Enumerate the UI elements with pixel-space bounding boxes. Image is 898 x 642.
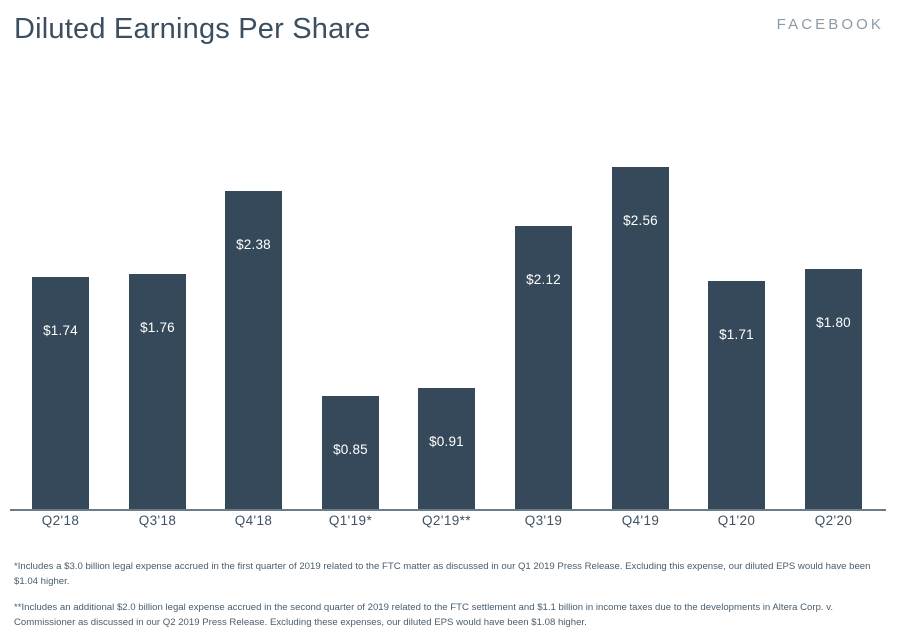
x-axis-label: Q4'18: [205, 513, 302, 528]
bar-Q218[interactable]: [32, 277, 89, 509]
x-axis-label: Q3'19: [495, 513, 592, 528]
slide-header: Diluted Earnings Per Share FACEBOOK: [0, 0, 898, 70]
x-axis-label: Q4'19: [592, 513, 689, 528]
bar-value-label: $0.91: [418, 434, 475, 449]
footnote-1: *Includes a $3.0 billion legal expense a…: [14, 560, 892, 589]
page-title: Diluted Earnings Per Share: [14, 13, 371, 46]
bar-value-label: $2.38: [225, 237, 282, 252]
x-axis-label: Q2'19**: [398, 513, 495, 528]
bar-Q319[interactable]: [515, 226, 572, 509]
x-axis-label: Q2'20: [785, 513, 882, 528]
bar-value-label: $1.71: [708, 327, 765, 342]
bar-value-label: $1.74: [32, 323, 89, 338]
footnotes: *Includes a $3.0 billion legal expense a…: [14, 560, 892, 642]
x-axis-label: Q2'18: [12, 513, 109, 528]
bar-value-label: $1.76: [129, 320, 186, 335]
bar-chart: $1.74$1.76$2.38$0.85$0.91$2.12$2.56$1.71…: [0, 70, 898, 545]
bar-Q318[interactable]: [129, 274, 186, 509]
bar-value-label: $1.80: [805, 315, 862, 330]
facebook-wordmark: FACEBOOK: [777, 16, 884, 33]
x-axis-label: Q3'18: [109, 513, 206, 528]
bar-Q220[interactable]: [805, 269, 862, 509]
x-axis-label: Q1'20: [688, 513, 785, 528]
x-axis-labels: Q2'18Q3'18Q4'18Q1'19*Q2'19**Q3'19Q4'19Q1…: [0, 513, 898, 543]
bar-value-label: $0.85: [322, 442, 379, 457]
chart-plot-area: $1.74$1.76$2.38$0.85$0.91$2.12$2.56$1.71…: [0, 70, 898, 510]
bar-value-label: $2.12: [515, 272, 572, 287]
bar-value-label: $2.56: [612, 213, 669, 228]
x-axis-line: [10, 509, 886, 511]
x-axis-label: Q1'19*: [302, 513, 399, 528]
bar-Q120[interactable]: [708, 281, 765, 509]
footnote-2: **Includes an additional $2.0 billion le…: [14, 601, 892, 630]
